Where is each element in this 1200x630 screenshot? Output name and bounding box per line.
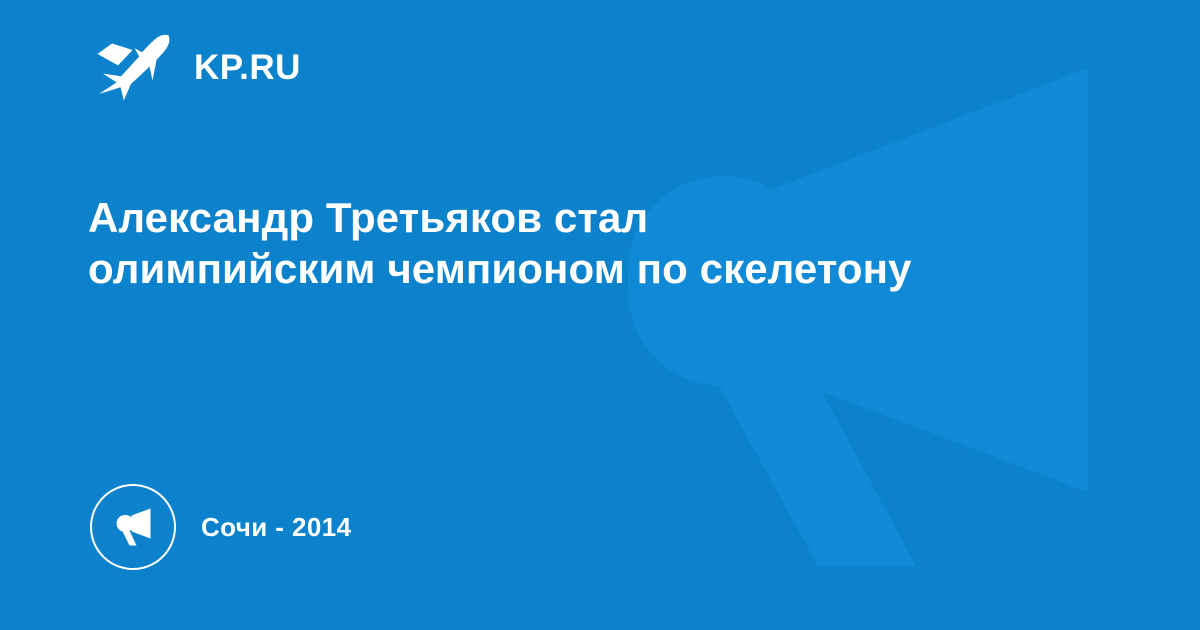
badge-icon-circle	[90, 484, 176, 570]
megaphone-icon	[110, 504, 156, 550]
brand-name: KP.RU	[194, 50, 301, 85]
swallow-bird-icon	[96, 32, 172, 102]
category-badge[interactable]: Сочи - 2014	[90, 484, 351, 570]
social-share-card: KP.RU Александр Третьяков стал олимпийск…	[0, 0, 1200, 630]
headline: Александр Третьяков стал олимпийским чем…	[88, 192, 928, 294]
brand-logo[interactable]: KP.RU	[96, 36, 301, 98]
badge-label: Сочи - 2014	[201, 514, 351, 540]
